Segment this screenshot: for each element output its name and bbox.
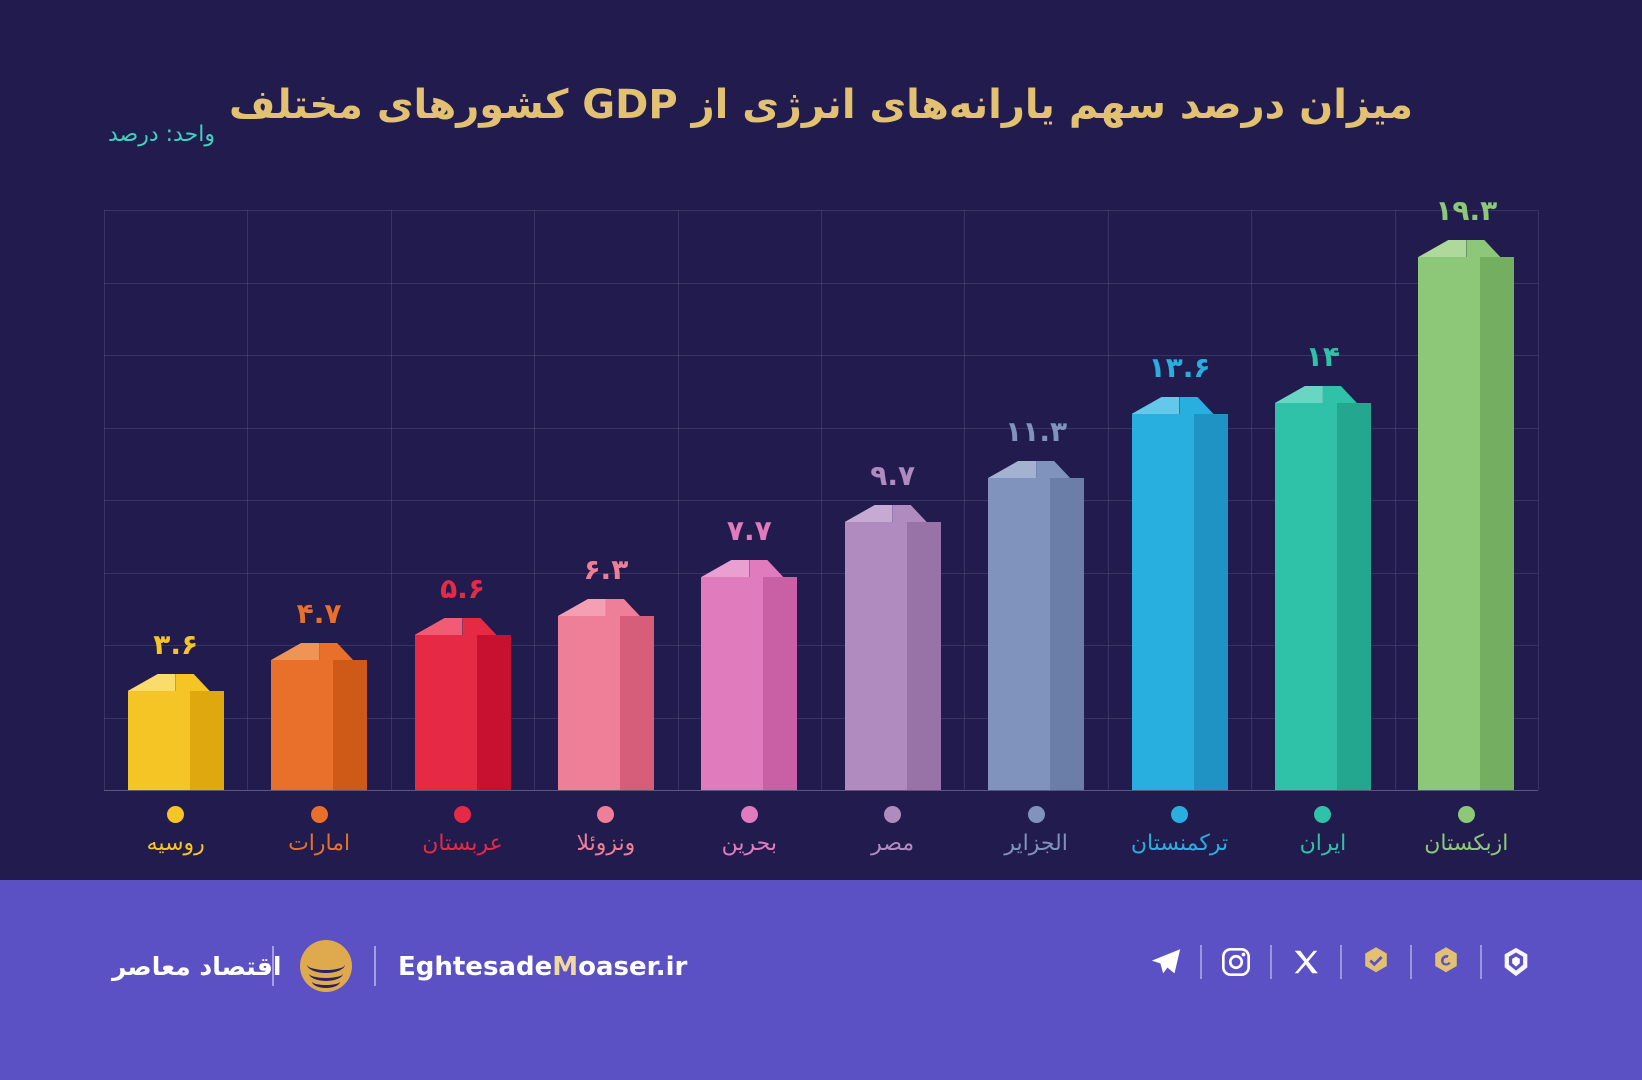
bar-value-label: ۳.۶ [106,628,246,661]
chart-category: مصر [818,792,968,856]
social-divider [1410,945,1412,979]
chart-category: ایران [1248,792,1398,856]
social-divider [1480,945,1482,979]
category-dot-icon [311,806,328,823]
category-label: ترکمنستان [1105,831,1255,856]
category-label: ونزوئلا [531,831,681,856]
social-divider [1340,945,1342,979]
bar-value-label: ۵.۶ [393,572,533,605]
category-label: الجزایر [961,831,1111,856]
chart-bar: ۶.۳ [558,616,654,790]
chart-category: ونزوئلا [531,792,681,856]
bar-value-label: ۱۱.۳ [966,415,1106,448]
page-title: میزان درصد سهم یارانه‌های انرژی از GDP ک… [0,78,1642,132]
chart-bar: ۱۳.۶ [1132,414,1228,790]
chart-bar: ۱۹.۳ [1418,257,1514,790]
chart-bar: ۴.۷ [271,660,367,790]
category-dot-icon [454,806,471,823]
chart-category: بحرین [674,792,824,856]
category-dot-icon [884,806,901,823]
category-label: ایران [1248,831,1398,856]
bar-value-label: ۶.۳ [536,553,676,586]
site-mid: M [552,952,578,982]
bar-value-label: ۱۴ [1253,340,1393,373]
brand-logo-icon [300,940,352,992]
x-icon[interactable] [1286,942,1326,982]
category-dot-icon [597,806,614,823]
telegram-icon[interactable] [1146,942,1186,982]
footer-divider [374,946,376,986]
chart-bar: ۱۱.۳ [988,478,1084,790]
category-label: بحرین [674,831,824,856]
site-suffix: oaser.ir [578,952,687,982]
footer-divider [272,946,274,986]
footer-brand-fa: اقتصاد معاصر [112,952,281,981]
social-links [1146,942,1536,982]
category-label: مصر [818,831,968,856]
category-dot-icon [741,806,758,823]
site-prefix: Eghtesade [398,952,552,982]
gridline-vertical [1538,210,1539,790]
social-divider [1270,945,1272,979]
category-label: عربستان [388,831,538,856]
chart-category: امارات [244,792,394,856]
category-label: امارات [244,831,394,856]
category-dot-icon [167,806,184,823]
aparat-icon[interactable] [1356,942,1396,982]
footer: اقتصاد معاصر EghtesadeMoaser.ir [0,880,1642,1080]
footer-site-url[interactable]: EghtesadeMoaser.ir [398,952,687,982]
bar-value-label: ۴.۷ [249,597,389,630]
chart-category: عربستان [388,792,538,856]
social-divider [1200,945,1202,979]
category-dot-icon [1458,806,1475,823]
chart-category-axis: روسیهاماراتعربستانونزوئلابحرینمصرالجزایر… [104,792,1538,882]
chart-bar: ۱۴ [1275,403,1371,790]
bar-value-label: ۷.۷ [679,514,819,547]
unit-label: واحد: درصد [108,122,215,147]
chart-axis-line [104,790,1538,791]
bar-value-label: ۱۳.۶ [1110,351,1250,384]
chart-bar: ۹.۷ [845,522,941,790]
category-label: ازبکستان [1391,831,1541,856]
category-dot-icon [1028,806,1045,823]
bale-icon[interactable] [1496,942,1536,982]
chart-category: ترکمنستان [1105,792,1255,856]
category-dot-icon [1314,806,1331,823]
eitaa-icon[interactable] [1426,942,1466,982]
bar-value-label: ۱۹.۳ [1396,194,1536,227]
bar-value-label: ۹.۷ [823,459,963,492]
chart-bar: ۳.۶ [128,691,224,790]
chart-bar: ۷.۷ [701,577,797,790]
category-label: روسیه [101,831,251,856]
category-dot-icon [1171,806,1188,823]
chart-category: ازبکستان [1391,792,1541,856]
chart-category: روسیه [101,792,251,856]
chart-bars: ۳.۶۴.۷۵.۶۶.۳۷.۷۹.۷۱۱.۳۱۳.۶۱۴۱۹.۳ [104,210,1538,790]
chart-category: الجزایر [961,792,1111,856]
chart-bar: ۵.۶ [415,635,511,790]
instagram-icon[interactable] [1216,942,1256,982]
